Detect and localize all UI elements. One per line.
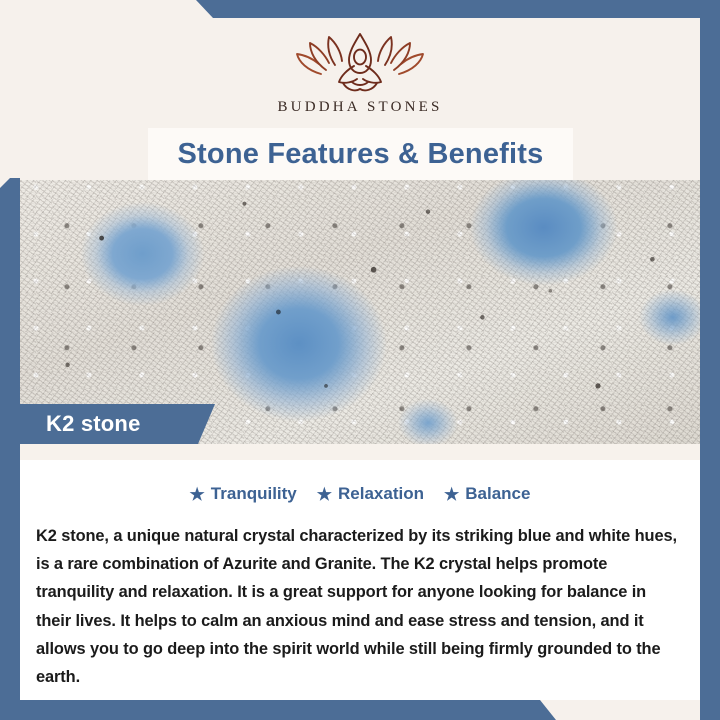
stone-description: K2 stone, a unique natural crystal chara… [36, 522, 684, 691]
stone-caption-label: K2 stone [46, 411, 141, 437]
benefit-item-relaxation: ★ Relaxation [317, 484, 424, 504]
benefit-label: Relaxation [338, 484, 424, 504]
benefit-item-tranquility: ★ Tranquility [190, 484, 297, 504]
content-top-strip [20, 444, 700, 460]
title-banner: Stone Features & Benefits [148, 128, 573, 180]
content-panel: ★ Tranquility ★ Relaxation ★ Balance K2 … [20, 444, 700, 700]
star-icon: ★ [190, 486, 205, 503]
stone-caption-badge: K2 stone [20, 404, 215, 444]
infographic-card: BUDDHA STONES Stone Features & Benefits … [0, 0, 720, 720]
star-icon: ★ [444, 486, 459, 503]
frame-top-accent [0, 0, 720, 18]
star-icon: ★ [317, 486, 332, 503]
brand-name: BUDDHA STONES [277, 99, 442, 116]
frame-left-accent [0, 178, 20, 720]
frame-right-accent [700, 0, 720, 720]
lotus-meditation-icon [285, 30, 435, 92]
benefits-list: ★ Tranquility ★ Relaxation ★ Balance [20, 484, 700, 504]
benefit-label: Tranquility [211, 484, 297, 504]
frame-bottom-accent [0, 700, 720, 720]
benefit-item-balance: ★ Balance [444, 484, 530, 504]
page-title: Stone Features & Benefits [178, 138, 544, 171]
benefit-label: Balance [465, 484, 530, 504]
